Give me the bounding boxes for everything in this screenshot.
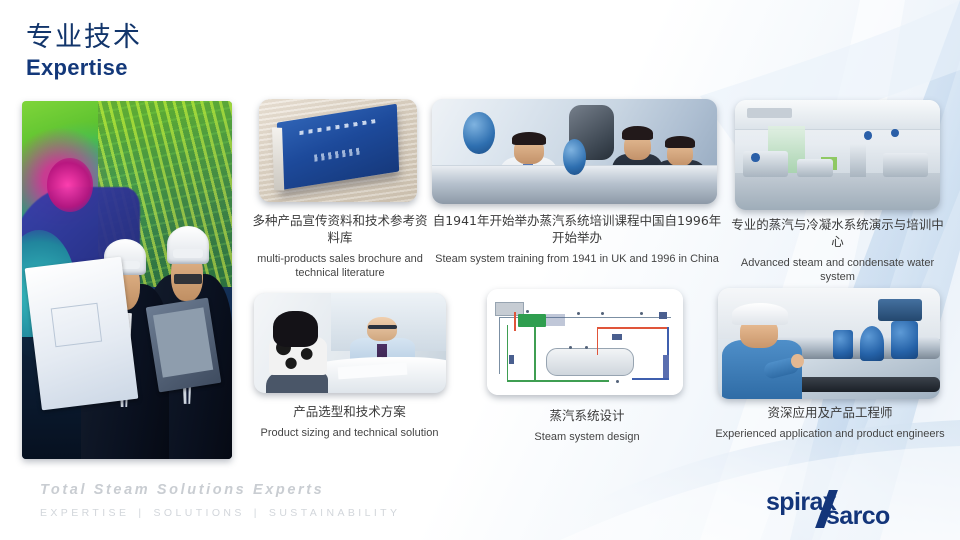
hero-image-two-engineers-blueprint bbox=[22, 101, 232, 459]
caption-design: 蒸汽系统设计 Steam system design bbox=[489, 408, 685, 444]
footer-pillar-expertise: EXPERTISE bbox=[40, 507, 129, 519]
footer-pillars: EXPERTISE | SOLUTIONS | SUSTAINABILITY bbox=[40, 507, 400, 519]
image-training-center-interior bbox=[735, 100, 940, 210]
caption-training-english: Steam system training from 1941 in UK an… bbox=[432, 252, 722, 266]
caption-training-chinese: 自1941年开始举办蒸汽系统培训课程中国自1996年开始举办 bbox=[432, 213, 722, 247]
caption-sizing: 产品选型和技术方案 Product sizing and technical s… bbox=[247, 404, 452, 440]
caption-brochure: 多种产品宣传资料和技术参考资料库 multi-products sales br… bbox=[252, 213, 428, 280]
footer-pillar-solutions: SOLUTIONS bbox=[154, 507, 245, 519]
footer-tagline: Total Steam Solutions Experts bbox=[40, 482, 400, 498]
caption-engineers-english: Experienced application and product engi… bbox=[714, 427, 946, 441]
caption-sizing-english: Product sizing and technical solution bbox=[247, 426, 452, 440]
caption-sizing-chinese: 产品选型和技术方案 bbox=[247, 404, 452, 421]
caption-center: 专业的蒸汽与冷凝水系统演示与培训中心 Advanced steam and co… bbox=[730, 217, 945, 284]
footer-separator-1: | bbox=[138, 507, 144, 519]
caption-center-english: Advanced steam and condensate water syst… bbox=[730, 256, 945, 285]
caption-design-chinese: 蒸汽系统设计 bbox=[489, 408, 685, 425]
image-steam-training-classroom bbox=[432, 99, 717, 204]
footer-separator-2: | bbox=[254, 507, 260, 519]
caption-brochure-chinese: 多种产品宣传资料和技术参考资料库 bbox=[252, 213, 428, 247]
caption-design-english: Steam system design bbox=[489, 430, 685, 444]
logo-word-sarco: sarco bbox=[826, 502, 890, 531]
slide-root: 专业技术 Expertise bbox=[0, 0, 960, 540]
caption-training: 自1941年开始举办蒸汽系统培训课程中国自1996年开始举办 Steam sys… bbox=[432, 213, 722, 266]
spirax-sarco-logo: spirax sarco bbox=[766, 488, 936, 530]
image-field-engineer-valves bbox=[718, 288, 940, 399]
footer-pillar-sustainability: SUSTAINABILITY bbox=[269, 507, 400, 519]
caption-engineers: 资深应用及产品工程师 Experienced application and p… bbox=[714, 405, 946, 441]
image-steam-system-schematic bbox=[487, 289, 683, 395]
image-customer-meeting bbox=[254, 293, 446, 393]
caption-brochure-english: multi-products sales brochure and techni… bbox=[252, 252, 428, 281]
caption-center-chinese: 专业的蒸汽与冷凝水系统演示与培训中心 bbox=[730, 217, 945, 251]
caption-engineers-chinese: 资深应用及产品工程师 bbox=[714, 405, 946, 422]
page-title-english: Expertise bbox=[26, 55, 142, 81]
page-title: 专业技术 Expertise bbox=[26, 22, 142, 81]
image-blue-technical-book bbox=[259, 99, 417, 202]
footer-tagline-block: Total Steam Solutions Experts EXPERTISE … bbox=[40, 482, 400, 519]
page-title-chinese: 专业技术 bbox=[26, 22, 142, 53]
